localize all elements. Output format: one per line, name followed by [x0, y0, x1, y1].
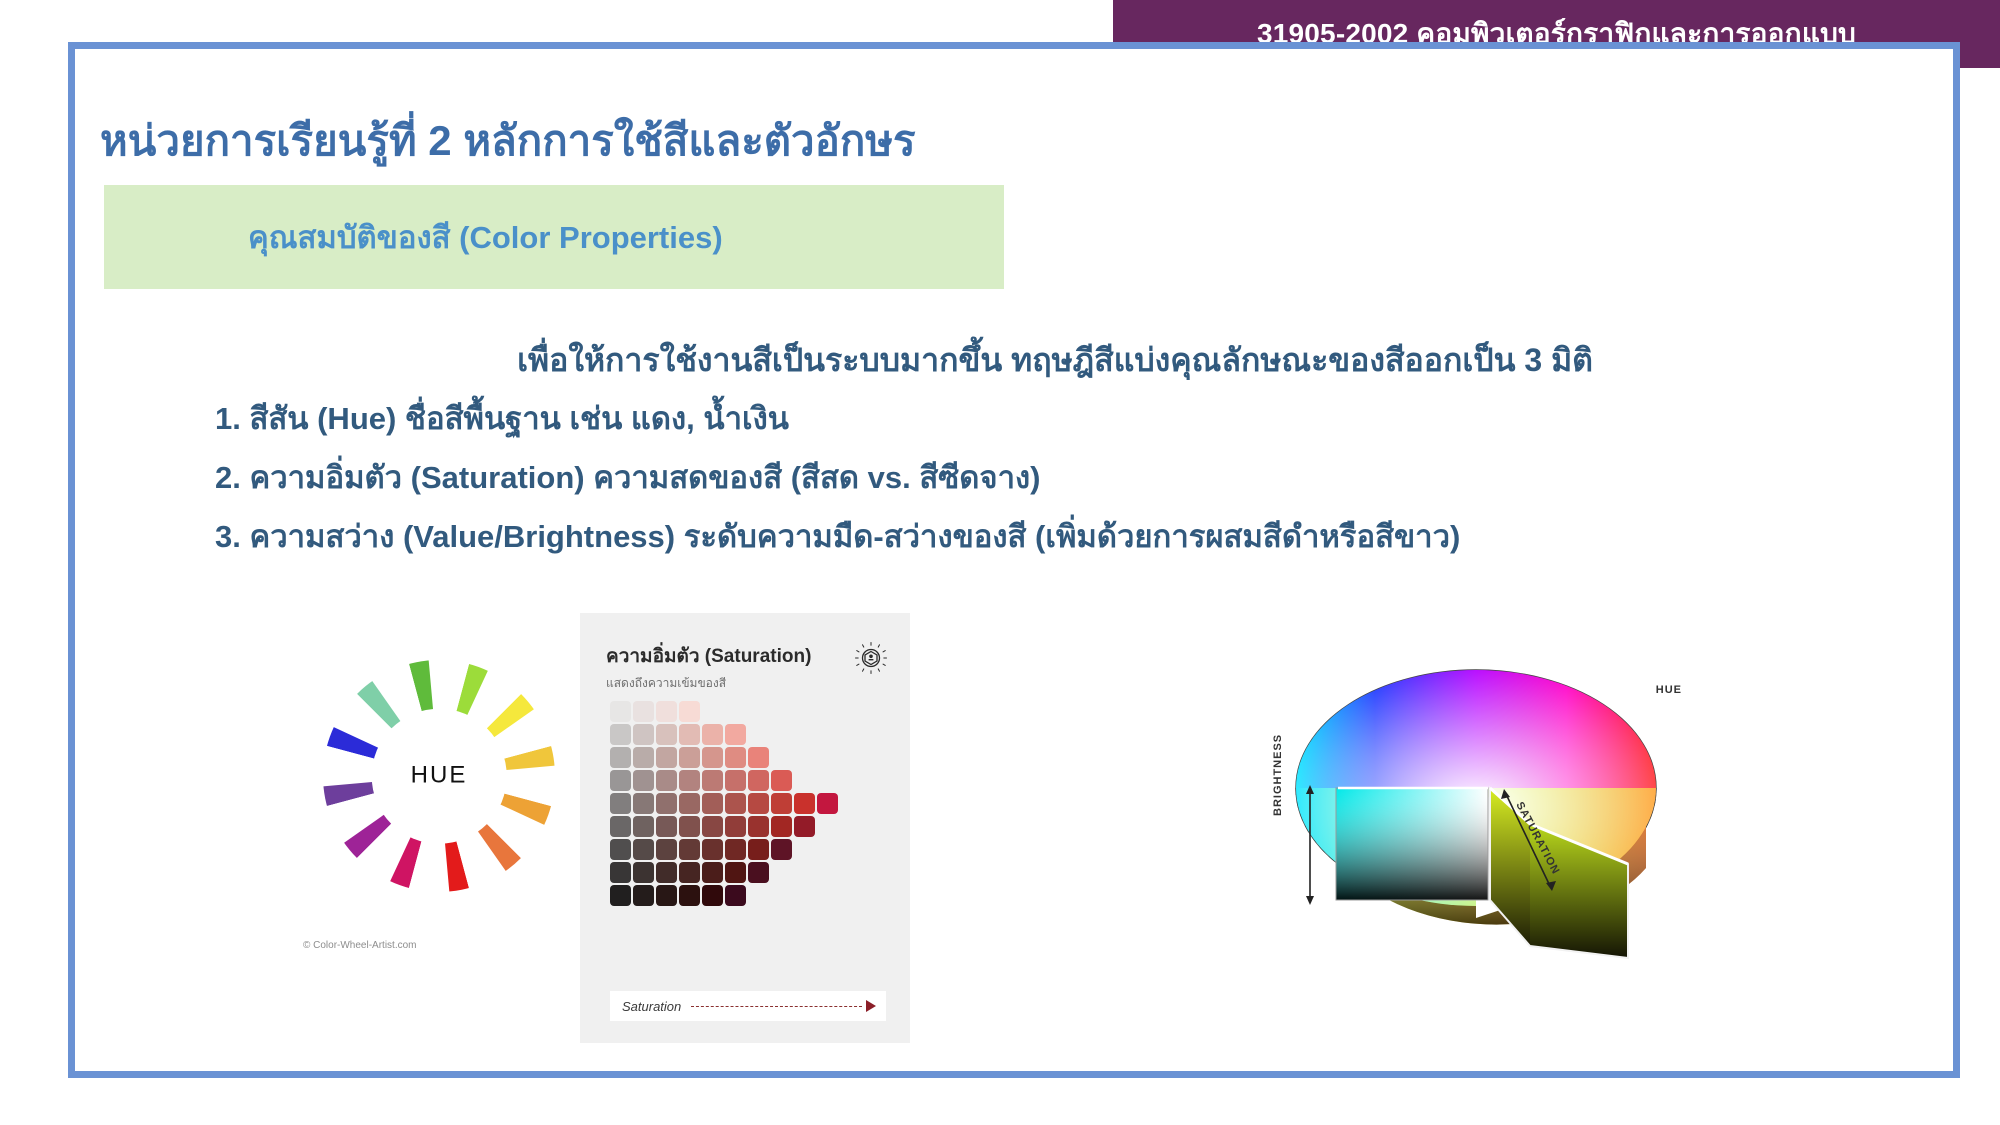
- color-swatch: [679, 839, 700, 860]
- color-swatch: [771, 839, 792, 860]
- hue-wheel-credit: © Color-Wheel-Artist.com: [303, 940, 417, 951]
- color-swatch: [771, 816, 792, 837]
- color-swatch: [725, 839, 746, 860]
- figure-row: HUE © Color-Wheel-Artist.com ความอิ่มตัว…: [68, 618, 1960, 1038]
- cylinder-hue-label: HUE: [1656, 684, 1682, 696]
- color-swatch: [702, 816, 723, 837]
- section-subtitle-band: คุณสมบัติของสี (Color Properties): [104, 185, 1004, 289]
- color-swatch: [656, 793, 677, 814]
- color-swatch: [656, 724, 677, 745]
- arrow-right-icon: [866, 1000, 876, 1012]
- color-swatch: [633, 724, 654, 745]
- color-swatch: [702, 862, 723, 883]
- saturation-card-head: ความอิ่มตัว (Saturation) แสดงถึงความเข้ม…: [606, 641, 811, 693]
- color-swatch: [656, 816, 677, 837]
- color-swatch: [725, 885, 746, 906]
- color-swatch: [656, 770, 677, 791]
- color-swatch: [679, 816, 700, 837]
- page-title: หน่วยการเรียนรู้ที่ 2 หลักการใช้สีและตัว…: [100, 108, 916, 174]
- color-swatch: [610, 885, 631, 906]
- color-swatch: [656, 862, 677, 883]
- color-swatch: [771, 793, 792, 814]
- saturation-swatch-row: [610, 701, 840, 724]
- figure-saturation-card: ความอิ่มตัว (Saturation) แสดงถึงความเข้ม…: [580, 613, 910, 1043]
- saturation-swatch-row: [610, 793, 840, 816]
- color-swatch: [633, 770, 654, 791]
- color-swatch: [748, 816, 769, 837]
- color-swatch: [656, 839, 677, 860]
- color-swatch: [702, 770, 723, 791]
- saturation-swatch-row: [610, 724, 840, 747]
- hue-wheel-center: HUE: [372, 709, 507, 844]
- hue-wheel-center-label: HUE: [411, 762, 468, 790]
- color-swatch: [610, 770, 631, 791]
- color-swatch: [702, 839, 723, 860]
- color-swatch: [679, 885, 700, 906]
- color-swatch: [725, 793, 746, 814]
- color-swatch: [725, 816, 746, 837]
- color-swatch: [702, 724, 723, 745]
- color-swatch: [610, 793, 631, 814]
- hsb-cylinder-graphic: [1268, 628, 1688, 1028]
- saturation-card-subtitle: แสดงถึงความเข้มของสี: [606, 674, 811, 693]
- color-swatch: [679, 747, 700, 768]
- color-swatch: [748, 793, 769, 814]
- color-swatch: [702, 793, 723, 814]
- saturation-swatch-row: [610, 885, 840, 908]
- color-swatch: [610, 839, 631, 860]
- color-swatch: [679, 793, 700, 814]
- color-swatch: [610, 862, 631, 883]
- body-copy: เพื่อให้การใช้งานสีเป็นระบบมากขึ้น ทฤษฎี…: [215, 340, 1895, 576]
- hue-wheel-graphic: HUE: [323, 660, 555, 892]
- color-swatch: [725, 862, 746, 883]
- intro-paragraph: เพื่อให้การใช้งานสีเป็นระบบมากขึ้น ทฤษฎี…: [215, 340, 1895, 380]
- color-swatch: [679, 724, 700, 745]
- color-swatch: [748, 770, 769, 791]
- color-swatch: [725, 724, 746, 745]
- color-swatch: [656, 885, 677, 906]
- color-swatch: [633, 816, 654, 837]
- saturation-axis: Saturation: [610, 991, 886, 1021]
- cylinder-brightness-label: BRIGHTNESS: [1272, 734, 1284, 816]
- color-swatch: [748, 747, 769, 768]
- color-swatch: [633, 747, 654, 768]
- saturation-swatch-grid: [610, 701, 840, 908]
- seal-badge-icon: [854, 641, 888, 675]
- saturation-axis-label: Saturation: [622, 999, 681, 1014]
- color-swatch: [610, 724, 631, 745]
- saturation-swatch-row: [610, 747, 840, 770]
- color-swatch: [748, 839, 769, 860]
- color-swatch: [702, 885, 723, 906]
- list-item: 1. สีสัน (Hue) ชื่อสีพื้นฐาน เช่น แดง, น…: [215, 400, 1895, 439]
- color-swatch: [610, 816, 631, 837]
- saturation-swatch-row: [610, 816, 840, 839]
- color-swatch: [656, 701, 677, 722]
- color-swatch: [817, 793, 838, 814]
- section-subtitle-label: คุณสมบัติของสี (Color Properties): [248, 212, 723, 262]
- saturation-card-title: ความอิ่มตัว (Saturation): [606, 641, 811, 671]
- color-swatch: [702, 747, 723, 768]
- color-swatch: [771, 770, 792, 791]
- color-swatch: [656, 747, 677, 768]
- saturation-axis-line: [691, 1006, 862, 1007]
- color-swatch: [679, 862, 700, 883]
- saturation-swatch-row: [610, 770, 840, 793]
- figure-hsb-cylinder: HUE BRIGHTNESS SATURATION: [1268, 628, 1688, 1028]
- saturation-swatch-row: [610, 839, 840, 862]
- color-swatch: [679, 770, 700, 791]
- color-swatch: [610, 747, 631, 768]
- figure-hue-wheel: HUE © Color-Wheel-Artist.com: [273, 640, 603, 1030]
- saturation-swatch-row: [610, 862, 840, 885]
- list-item: 3. ความสว่าง (Value/Brightness) ระดับควา…: [215, 518, 1895, 557]
- color-swatch: [794, 793, 815, 814]
- color-swatch: [633, 839, 654, 860]
- color-swatch: [610, 701, 631, 722]
- color-swatch: [725, 770, 746, 791]
- color-swatch: [633, 885, 654, 906]
- color-swatch: [679, 701, 700, 722]
- color-swatch: [794, 816, 815, 837]
- color-swatch: [748, 862, 769, 883]
- color-swatch: [633, 862, 654, 883]
- color-swatch: [725, 747, 746, 768]
- list-item: 2. ความอิ่มตัว (Saturation) ความสดของสี …: [215, 459, 1895, 498]
- color-swatch: [633, 793, 654, 814]
- color-swatch: [633, 701, 654, 722]
